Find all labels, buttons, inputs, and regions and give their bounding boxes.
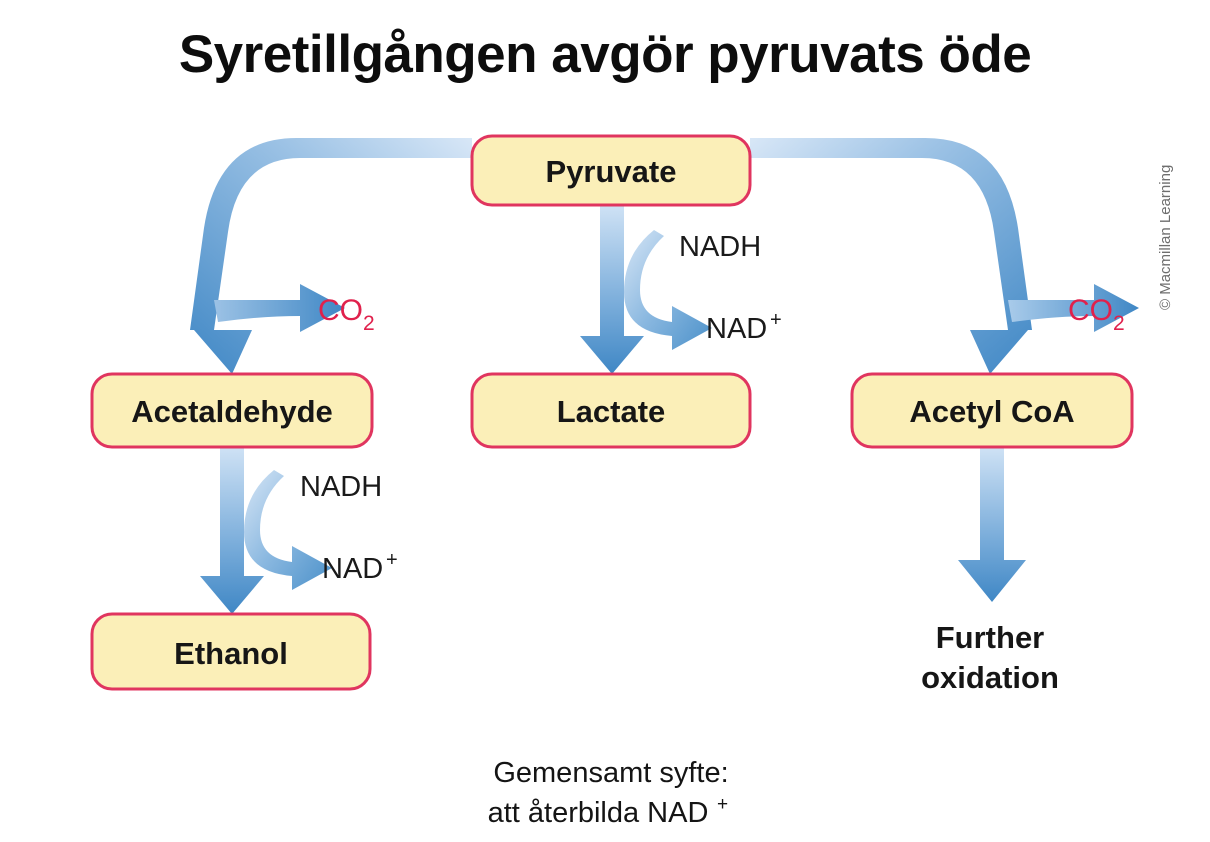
nad-label-ethanol: NAD [322, 553, 383, 585]
node-ethanol[interactable]: Ethanol [92, 614, 370, 689]
nad-superscript-ethanol: + [386, 549, 398, 571]
nad-label-lactate: NAD [706, 313, 767, 345]
node-further-oxidation[interactable]: Further oxidation [921, 620, 1059, 695]
caption-line-2-superscript: + [717, 794, 728, 815]
co2-left-label: CO [318, 294, 363, 327]
pyruvate-fate-flowchart: Syretillgången avgör pyruvats öde [0, 0, 1210, 842]
credit-line: © Macmillan Learning [1157, 165, 1174, 310]
node-acetaldehyde[interactable]: Acetaldehyde [92, 374, 372, 447]
edge-pyruvate-to-acetyl-coa [750, 138, 1139, 374]
credit-text: © Macmillan Learning [1157, 165, 1174, 310]
co2-left-subscript: 2 [363, 312, 375, 335]
node-lactate-label: Lactate [557, 394, 666, 429]
nadh-label-lactate: NADH [679, 231, 761, 263]
diagram-canvas: Syretillgången avgör pyruvats öde [0, 0, 1210, 842]
node-pyruvate[interactable]: Pyruvate [472, 136, 750, 205]
side-product-co2-left: CO 2 [318, 294, 375, 335]
page-title: Syretillgången avgör pyruvats öde [179, 25, 1031, 84]
node-further-oxidation-line2: oxidation [921, 660, 1059, 695]
caption-line-1: Gemensamt syfte: [493, 757, 728, 789]
node-lactate[interactable]: Lactate [472, 374, 750, 447]
nadh-label-ethanol: NADH [300, 471, 382, 503]
caption: Gemensamt syfte: att återbilda NAD + [488, 757, 729, 829]
node-pyruvate-label: Pyruvate [546, 154, 677, 189]
node-acetyl-coa[interactable]: Acetyl CoA [852, 374, 1132, 447]
co2-right-label: CO [1068, 294, 1113, 327]
edge-pyruvate-to-acetaldehyde [190, 138, 472, 374]
nad-superscript-lactate: + [770, 309, 782, 331]
edge-acetyl-coa-to-further-oxidation [958, 447, 1026, 602]
node-further-oxidation-line1: Further [936, 620, 1045, 655]
node-acetyl-coa-label: Acetyl CoA [909, 394, 1074, 429]
caption-line-2: att återbilda NAD [488, 797, 709, 829]
node-acetaldehyde-label: Acetaldehyde [131, 394, 333, 429]
co2-right-subscript: 2 [1113, 312, 1125, 335]
node-ethanol-label: Ethanol [174, 636, 288, 671]
